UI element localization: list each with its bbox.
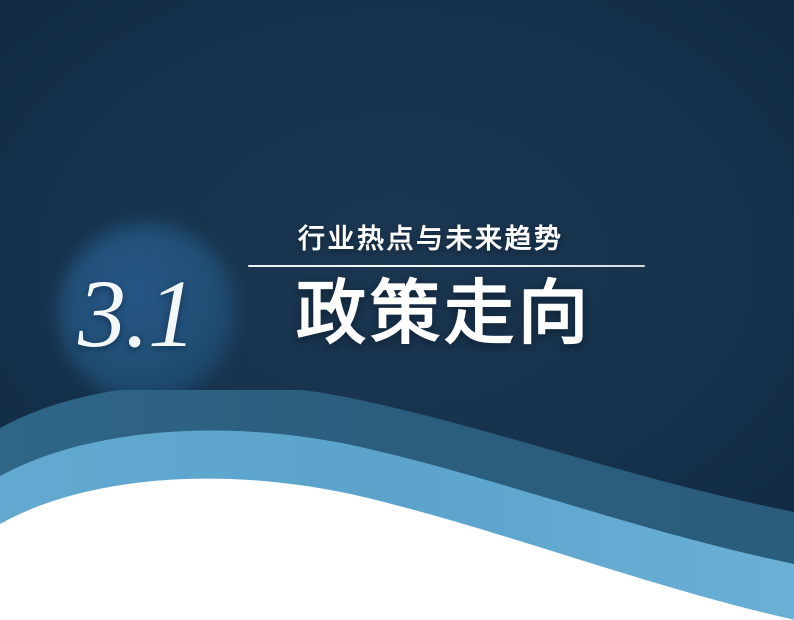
title-divider-rule	[248, 265, 645, 267]
section-eyebrow: 行业热点与未来趋势	[248, 222, 668, 256]
bottom-wave-decoration	[0, 390, 794, 620]
page-title: 政策走向	[248, 274, 668, 352]
title-block: 行业热点与未来趋势 政策走向	[248, 222, 668, 352]
section-divider-slide: 3.1 行业热点与未来趋势 政策走向	[0, 0, 794, 620]
section-number: 3.1	[78, 262, 228, 372]
